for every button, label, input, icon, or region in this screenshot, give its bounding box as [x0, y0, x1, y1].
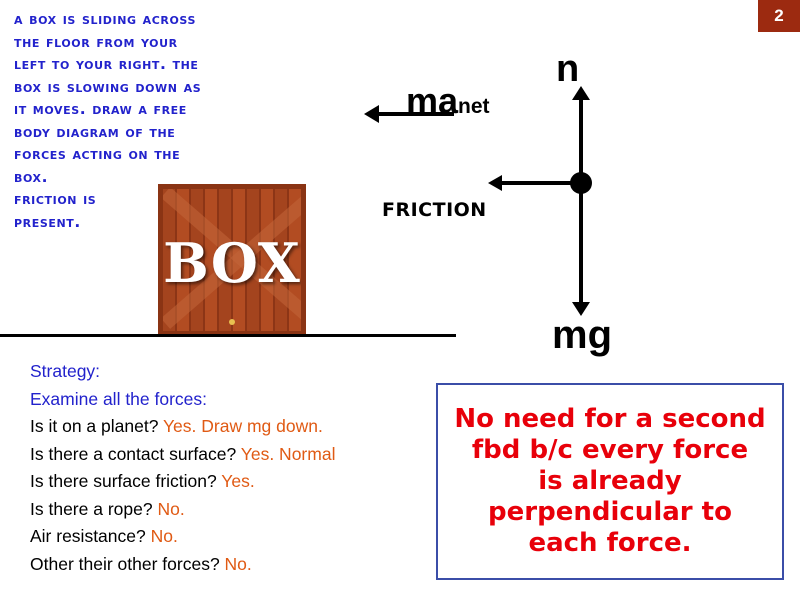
problem-line-7: forces acting on the — [14, 143, 324, 166]
strategy-item: Other their other forces? No. — [30, 551, 450, 579]
strategy-answer: Yes. — [221, 471, 254, 491]
strategy-question: Is there a rope? — [30, 499, 153, 519]
note-line-1: No need for a second — [454, 404, 765, 435]
friction-force-arrow — [500, 181, 578, 185]
strategy-question: Air resistance? — [30, 526, 146, 546]
strategy-answer: Yes. Draw mg down. — [163, 416, 323, 436]
strategy-block: Strategy: Examine all the forces: Is it … — [30, 358, 450, 578]
strategy-answer: No. — [151, 526, 178, 546]
slide-number: 2 — [774, 6, 783, 26]
weight-force-arrow — [579, 188, 583, 306]
note-line-5: each force. — [454, 528, 765, 559]
problem-line-3: left to your right. The — [14, 53, 324, 76]
strategy-item: Air resistance? No. — [30, 523, 450, 551]
wooden-box-graphic: BOX — [158, 184, 306, 336]
strategy-answer: No. — [225, 554, 252, 574]
strategy-heading: Strategy: — [30, 358, 450, 386]
net-acceleration-arrowhead-icon — [364, 105, 379, 123]
friction-force-arrowhead-icon — [488, 175, 502, 191]
normal-force-label: n — [556, 48, 579, 91]
slide-number-badge: 2 — [758, 0, 800, 32]
strategy-answer: No. — [157, 499, 184, 519]
net-acceleration-symbol: ma — [406, 80, 458, 121]
problem-line-4: box is slowing down as — [14, 76, 324, 99]
problem-line-6: body diagram of the — [14, 121, 324, 144]
strategy-item: Is there a rope? No. — [30, 496, 450, 524]
strategy-item: Is it on a planet? Yes. Draw mg down. — [30, 413, 450, 441]
note-text: No need for a second fbd b/c every force… — [454, 404, 765, 559]
strategy-answer: Yes. Normal — [241, 444, 336, 464]
strategy-subheading: Examine all the forces: — [30, 386, 450, 414]
problem-line-1: A box is sliding across — [14, 8, 324, 31]
strategy-question: Other their other forces? — [30, 554, 220, 574]
note-line-2: fbd b/c every force — [454, 435, 765, 466]
strategy-question: Is there a contact surface? — [30, 444, 236, 464]
note-line-4: perpendicular to — [454, 497, 765, 528]
box-center-dot — [229, 319, 235, 325]
strategy-item: Is there a contact surface? Yes. Normal — [30, 441, 450, 469]
weight-force-label: mg — [552, 313, 612, 358]
note-box: No need for a second fbd b/c every force… — [436, 383, 784, 580]
strategy-question: Is it on a planet? — [30, 416, 158, 436]
problem-line-5: it moves. Draw a free — [14, 98, 324, 121]
note-line-3: is already — [454, 466, 765, 497]
friction-force-label: Friction — [382, 192, 487, 223]
net-acceleration-label: manet — [406, 80, 490, 122]
normal-force-arrow — [579, 95, 583, 177]
net-acceleration-subscript: net — [458, 95, 490, 118]
problem-line-2: the floor from your — [14, 31, 324, 54]
strategy-question: Is there surface friction? — [30, 471, 217, 491]
free-body-diagram: n mg Friction manet — [360, 50, 790, 370]
strategy-item: Is there surface friction? Yes. — [30, 468, 450, 496]
box-label: BOX — [163, 231, 301, 295]
